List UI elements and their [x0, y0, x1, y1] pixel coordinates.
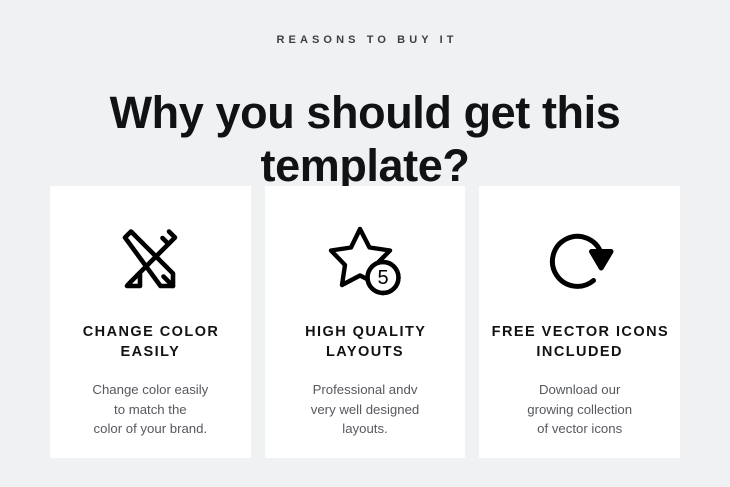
feature-card-body: Change color easily to match the color o… — [80, 380, 220, 439]
feature-card-list: CHANGE COLOR EASILY Change color easily … — [50, 186, 680, 458]
feature-card-title: HIGH QUALITY LAYOUTS — [265, 322, 466, 362]
feature-card-title: FREE VECTOR ICONS INCLUDED — [479, 322, 680, 362]
feature-card-title: CHANGE COLOR EASILY — [50, 322, 251, 362]
feature-section: REASONS TO BUY IT Why you should get thi… — [0, 0, 730, 487]
svg-text:5: 5 — [377, 267, 388, 289]
pencil-brush-icon — [111, 216, 189, 302]
feature-card-body: Download our growing collection of vecto… — [515, 380, 644, 439]
feature-card[interactable]: FREE VECTOR ICONS INCLUDED Download our … — [479, 186, 680, 458]
feature-card[interactable]: CHANGE COLOR EASILY Change color easily … — [50, 186, 251, 458]
feature-card[interactable]: 5 HIGH QUALITY LAYOUTS Professional andv… — [265, 186, 466, 458]
feature-card-body: Professional andv very well designed lay… — [299, 380, 432, 439]
star-rating-five-icon: 5 — [326, 216, 404, 302]
refresh-circle-arrow-icon — [541, 216, 619, 302]
page-title: Why you should get this template? — [0, 86, 730, 192]
section-eyebrow: REASONS TO BUY IT — [0, 34, 730, 46]
